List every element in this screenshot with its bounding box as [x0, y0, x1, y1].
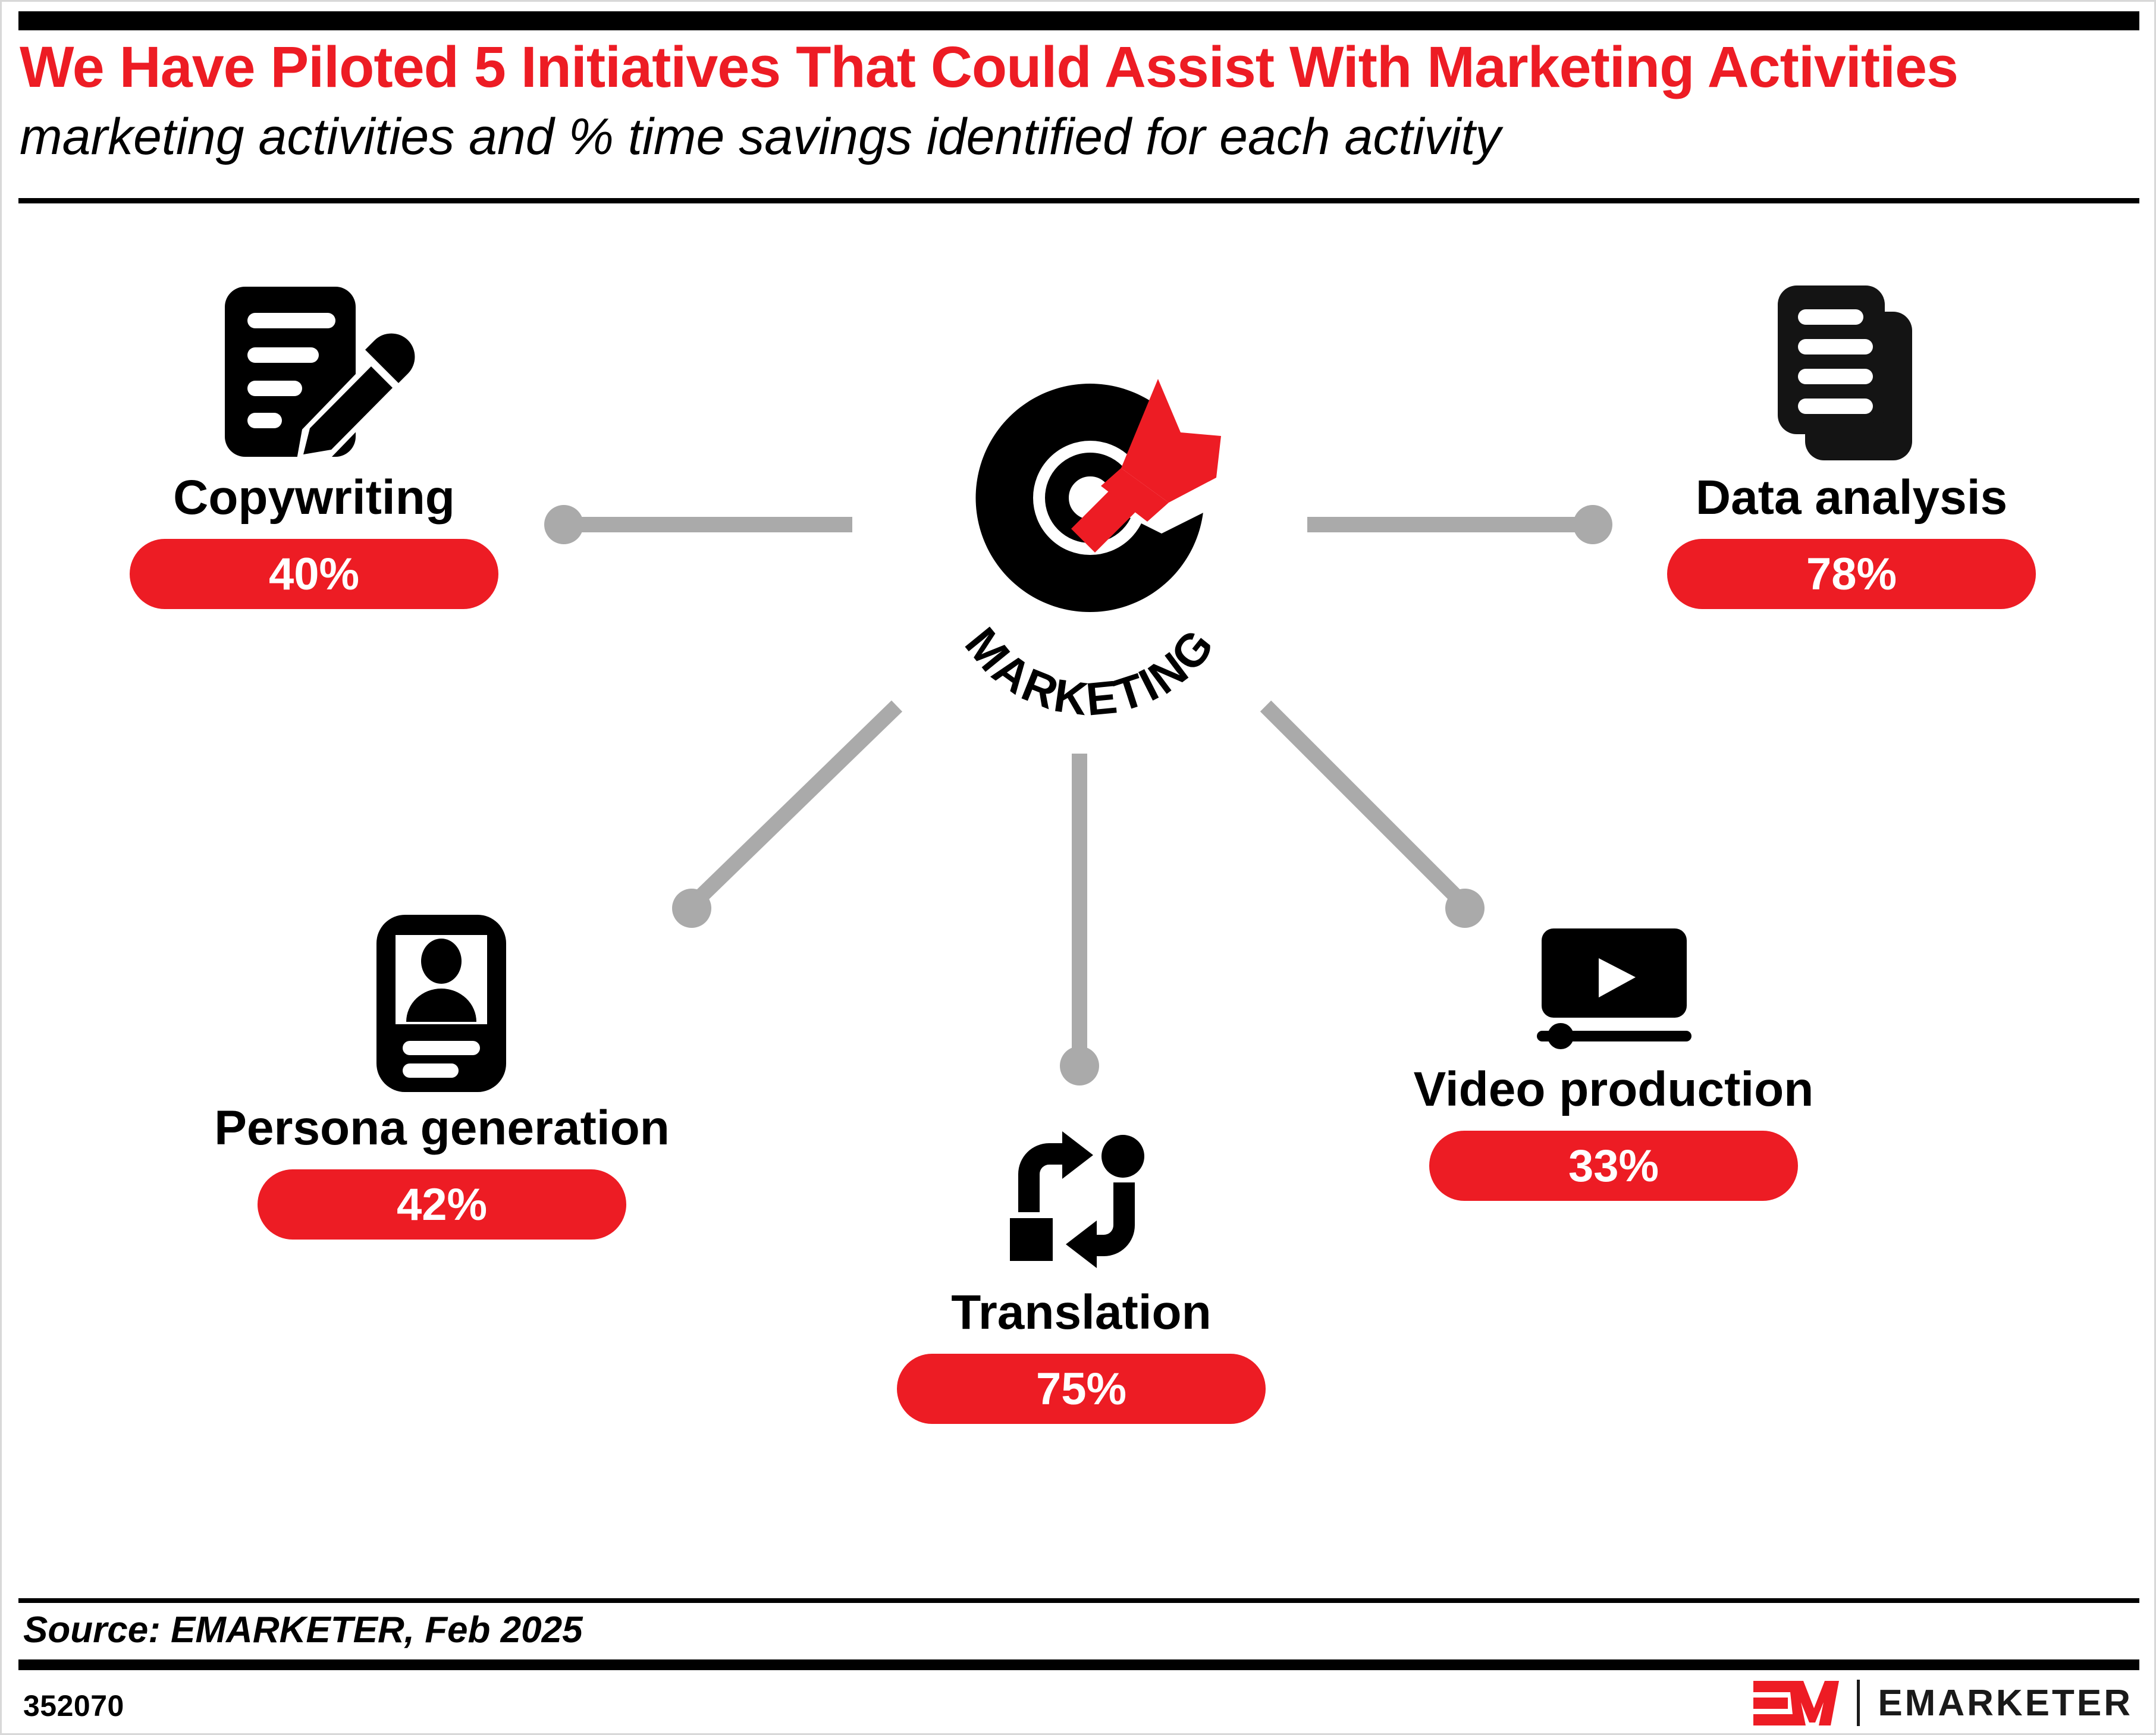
node-value-data-analysis: 78%: [1667, 539, 2036, 609]
connector-persona: [692, 706, 897, 905]
node-data-analysis[interactable]: Data analysis 78%: [1667, 281, 2036, 609]
connector-dot-copywriting: [544, 505, 583, 544]
svg-text:MARKETING: MARKETING: [955, 617, 1225, 724]
node-value-translation: 75%: [897, 1354, 1266, 1424]
node-label-copywriting: Copywriting: [173, 473, 455, 522]
marketing-hub: MARKETING: [912, 355, 1269, 724]
node-label-translation: Translation: [951, 1288, 1211, 1337]
logo-divider: [1857, 1680, 1860, 1726]
node-copywriting[interactable]: Copywriting 40%: [130, 281, 498, 609]
node-label-persona-generation: Persona generation: [214, 1104, 670, 1153]
node-value-video-production: 33%: [1429, 1131, 1798, 1201]
connector-dot-translation: [1060, 1046, 1099, 1085]
header-divider-rule: [18, 198, 2139, 203]
top-black-bar: [18, 11, 2139, 30]
emarketer-logo[interactable]: EMARKETER: [1752, 1678, 2133, 1728]
hub-label: MARKETING: [955, 617, 1225, 724]
connector-video: [1266, 706, 1465, 905]
chart-id: 352070: [23, 1689, 124, 1723]
brand-wordmark: EMARKETER: [1878, 1682, 2133, 1724]
node-translation[interactable]: Translation 75%: [897, 1119, 1266, 1424]
em-monogram-icon: [1752, 1677, 1841, 1728]
stacked-documents-icon: [1762, 281, 1941, 465]
page-title: We Have Piloted 5 Initiatives That Could…: [20, 36, 2137, 99]
node-label-data-analysis: Data analysis: [1696, 473, 2007, 522]
node-value-copywriting: 40%: [130, 539, 498, 609]
target-dart-icon: MARKETING: [912, 355, 1269, 724]
page-subtitle: marketing activities and % time savings …: [20, 109, 2137, 165]
node-label-video-production: Video production: [1414, 1065, 1814, 1114]
source-divider-top: [18, 1598, 2139, 1603]
node-value-persona-generation: 42%: [258, 1169, 626, 1240]
shape-convert-arrows-icon: [992, 1119, 1170, 1280]
node-persona-generation[interactable]: Persona generation 42%: [258, 911, 626, 1240]
video-player-icon: [1521, 908, 1706, 1057]
connector-dot-data-analysis: [1573, 505, 1612, 544]
source-divider-bottom: [18, 1659, 2139, 1670]
id-badge-person-icon: [371, 911, 513, 1096]
source-note: Source: EMARKETER, Feb 2025: [23, 1609, 583, 1651]
document-pencil-icon: [213, 281, 415, 465]
infographic-page: We Have Piloted 5 Initiatives That Could…: [0, 0, 2156, 1735]
node-video-production[interactable]: Video production 33%: [1429, 908, 1798, 1201]
connector-dot-persona: [672, 889, 711, 928]
diagram-canvas: MARKETING Copywriting 40%: [2, 203, 2156, 1583]
